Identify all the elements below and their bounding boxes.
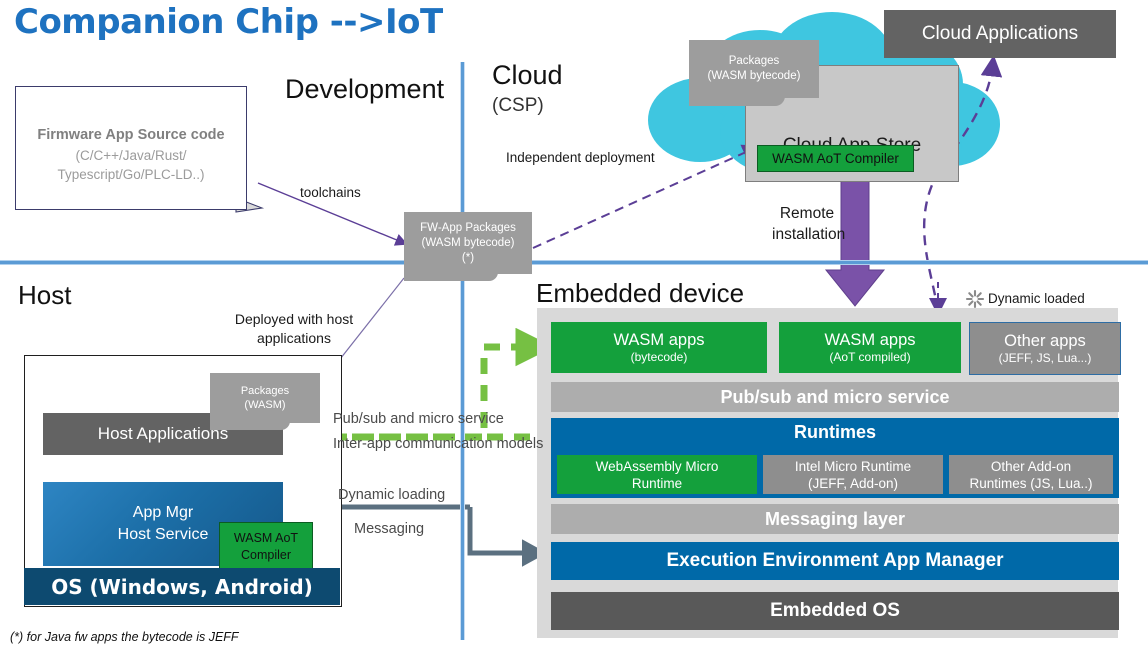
host-wasm-aot-compiler[interactable]: WASM AoT Compiler [219, 522, 313, 572]
cloud-applications-box[interactable]: Cloud Applications [884, 10, 1116, 58]
firmware-source-line2: Typescript/Go/PLC-LD..) [57, 165, 204, 184]
fw-packages-line2: (WASM bytecode) [420, 236, 516, 251]
callout-tear [404, 272, 498, 281]
cloud-packages-line2: (WASM bytecode) [708, 69, 801, 84]
app-subtitle: (AoT compiled) [829, 350, 910, 365]
host-packages-line1: Packages [241, 384, 289, 398]
app-title: WASM apps [824, 331, 915, 350]
page-title: Companion Chip -->IoT [14, 2, 443, 42]
runtime-intel-micro[interactable]: Intel Micro Runtime (JEFF, Add-on) [763, 455, 943, 494]
app-mgr-line1: App Mgr [133, 502, 193, 524]
label-deployed-with-host-applications: Deployed with host applications [219, 310, 369, 348]
fw-packages-line1: FW-App Packages [420, 221, 516, 236]
section-label-host: Host [18, 280, 71, 311]
firmware-source-line1: (C/C++/Java/Rust/ [57, 146, 204, 165]
section-label-cloud-sub: (CSP) [492, 95, 544, 117]
section-label-development: Development [285, 74, 444, 105]
fw-app-packages-box[interactable]: FW-App Packages (WASM bytecode) (*) [404, 212, 532, 274]
section-label-cloud: Cloud [492, 60, 563, 91]
app-title: Other apps [1004, 332, 1086, 351]
app-subtitle: (JEFF, JS, Lua...) [999, 351, 1092, 366]
fw-packages-line3: (*) [420, 251, 516, 266]
divider-vertical [460, 62, 465, 640]
embedded-app-other[interactable]: Other apps (JEFF, JS, Lua...) [969, 322, 1121, 375]
app-subtitle: (bytecode) [631, 350, 688, 365]
app-title: WASM apps [613, 331, 704, 350]
callout-tear [689, 96, 785, 106]
diagram-canvas: Companion Chip -->IoT Development Cloud … [0, 0, 1148, 653]
app-mgr-line2: Host Service [118, 524, 209, 546]
runtime-other-addon[interactable]: Other Add-on Runtimes (JS, Lua..) [949, 455, 1113, 494]
embedded-messaging-layer[interactable]: Messaging layer [551, 504, 1119, 534]
host-packages-line2: (WASM) [241, 398, 289, 412]
cloud-wasm-aot-compiler[interactable]: WASM AoT Compiler [757, 145, 914, 172]
cloud-packages-box[interactable]: Packages (WASM bytecode) [689, 40, 819, 98]
label-toolchains: toolchains [300, 185, 361, 200]
label-independent-deployment: Independent deployment [506, 150, 655, 165]
runtime-webassembly-micro[interactable]: WebAssembly Micro Runtime [557, 455, 757, 494]
runtime-line2: Runtimes (JS, Lua..) [969, 475, 1092, 492]
embedded-app-wasm-bytecode[interactable]: WASM apps (bytecode) [551, 322, 767, 373]
divider-horizontal [0, 260, 1148, 265]
cloud-packages-line1: Packages [708, 54, 801, 69]
label-pubsub-micro-service: Pub/sub and micro service [333, 411, 504, 427]
deployed-line1: Deployed with host [235, 311, 353, 327]
wasm-aot-line2: Compiler [241, 547, 291, 564]
runtime-line1: WebAssembly Micro [596, 458, 719, 475]
callout-tear [210, 421, 290, 430]
deployed-line2: applications [257, 330, 331, 346]
wasm-aot-line1: WASM AoT [234, 530, 298, 547]
label-dynamic-loaded: Dynamic loaded [988, 291, 1085, 306]
embedded-app-wasm-aot[interactable]: WASM apps (AoT compiled) [779, 322, 961, 373]
runtime-line2: Runtime [632, 475, 682, 492]
firmware-app-source-box[interactable]: Firmware App Source code (C/C++/Java/Rus… [15, 86, 247, 210]
label-messaging: Messaging [354, 521, 424, 537]
embedded-pubsub-layer[interactable]: Pub/sub and micro service [551, 382, 1119, 412]
embedded-exec-env-app-manager[interactable]: Execution Environment App Manager [551, 542, 1119, 580]
runtime-line1: Other Add-on [991, 458, 1071, 475]
footnote: (*) for Java fw apps the bytecode is JEF… [10, 630, 239, 644]
section-label-embedded-device: Embedded device [536, 278, 744, 309]
runtime-line1: Intel Micro Runtime [795, 458, 911, 475]
firmware-source-title: Firmware App Source code [37, 127, 224, 143]
remote-line2: installation [772, 226, 845, 243]
embedded-runtimes-title: Runtimes [551, 420, 1119, 445]
label-remote-installation: Remote installation [772, 203, 842, 245]
host-packages-box[interactable]: Packages (WASM) [210, 373, 320, 423]
label-inter-app-communication-models: Inter-app communication models [333, 436, 543, 452]
remote-line1: Remote [780, 205, 834, 222]
label-dynamic-loading: Dynamic loading [338, 487, 445, 503]
host-os-bar[interactable]: OS (Windows, Android) [24, 568, 340, 605]
embedded-os[interactable]: Embedded OS [551, 592, 1119, 630]
runtime-line2: (JEFF, Add-on) [808, 475, 898, 492]
